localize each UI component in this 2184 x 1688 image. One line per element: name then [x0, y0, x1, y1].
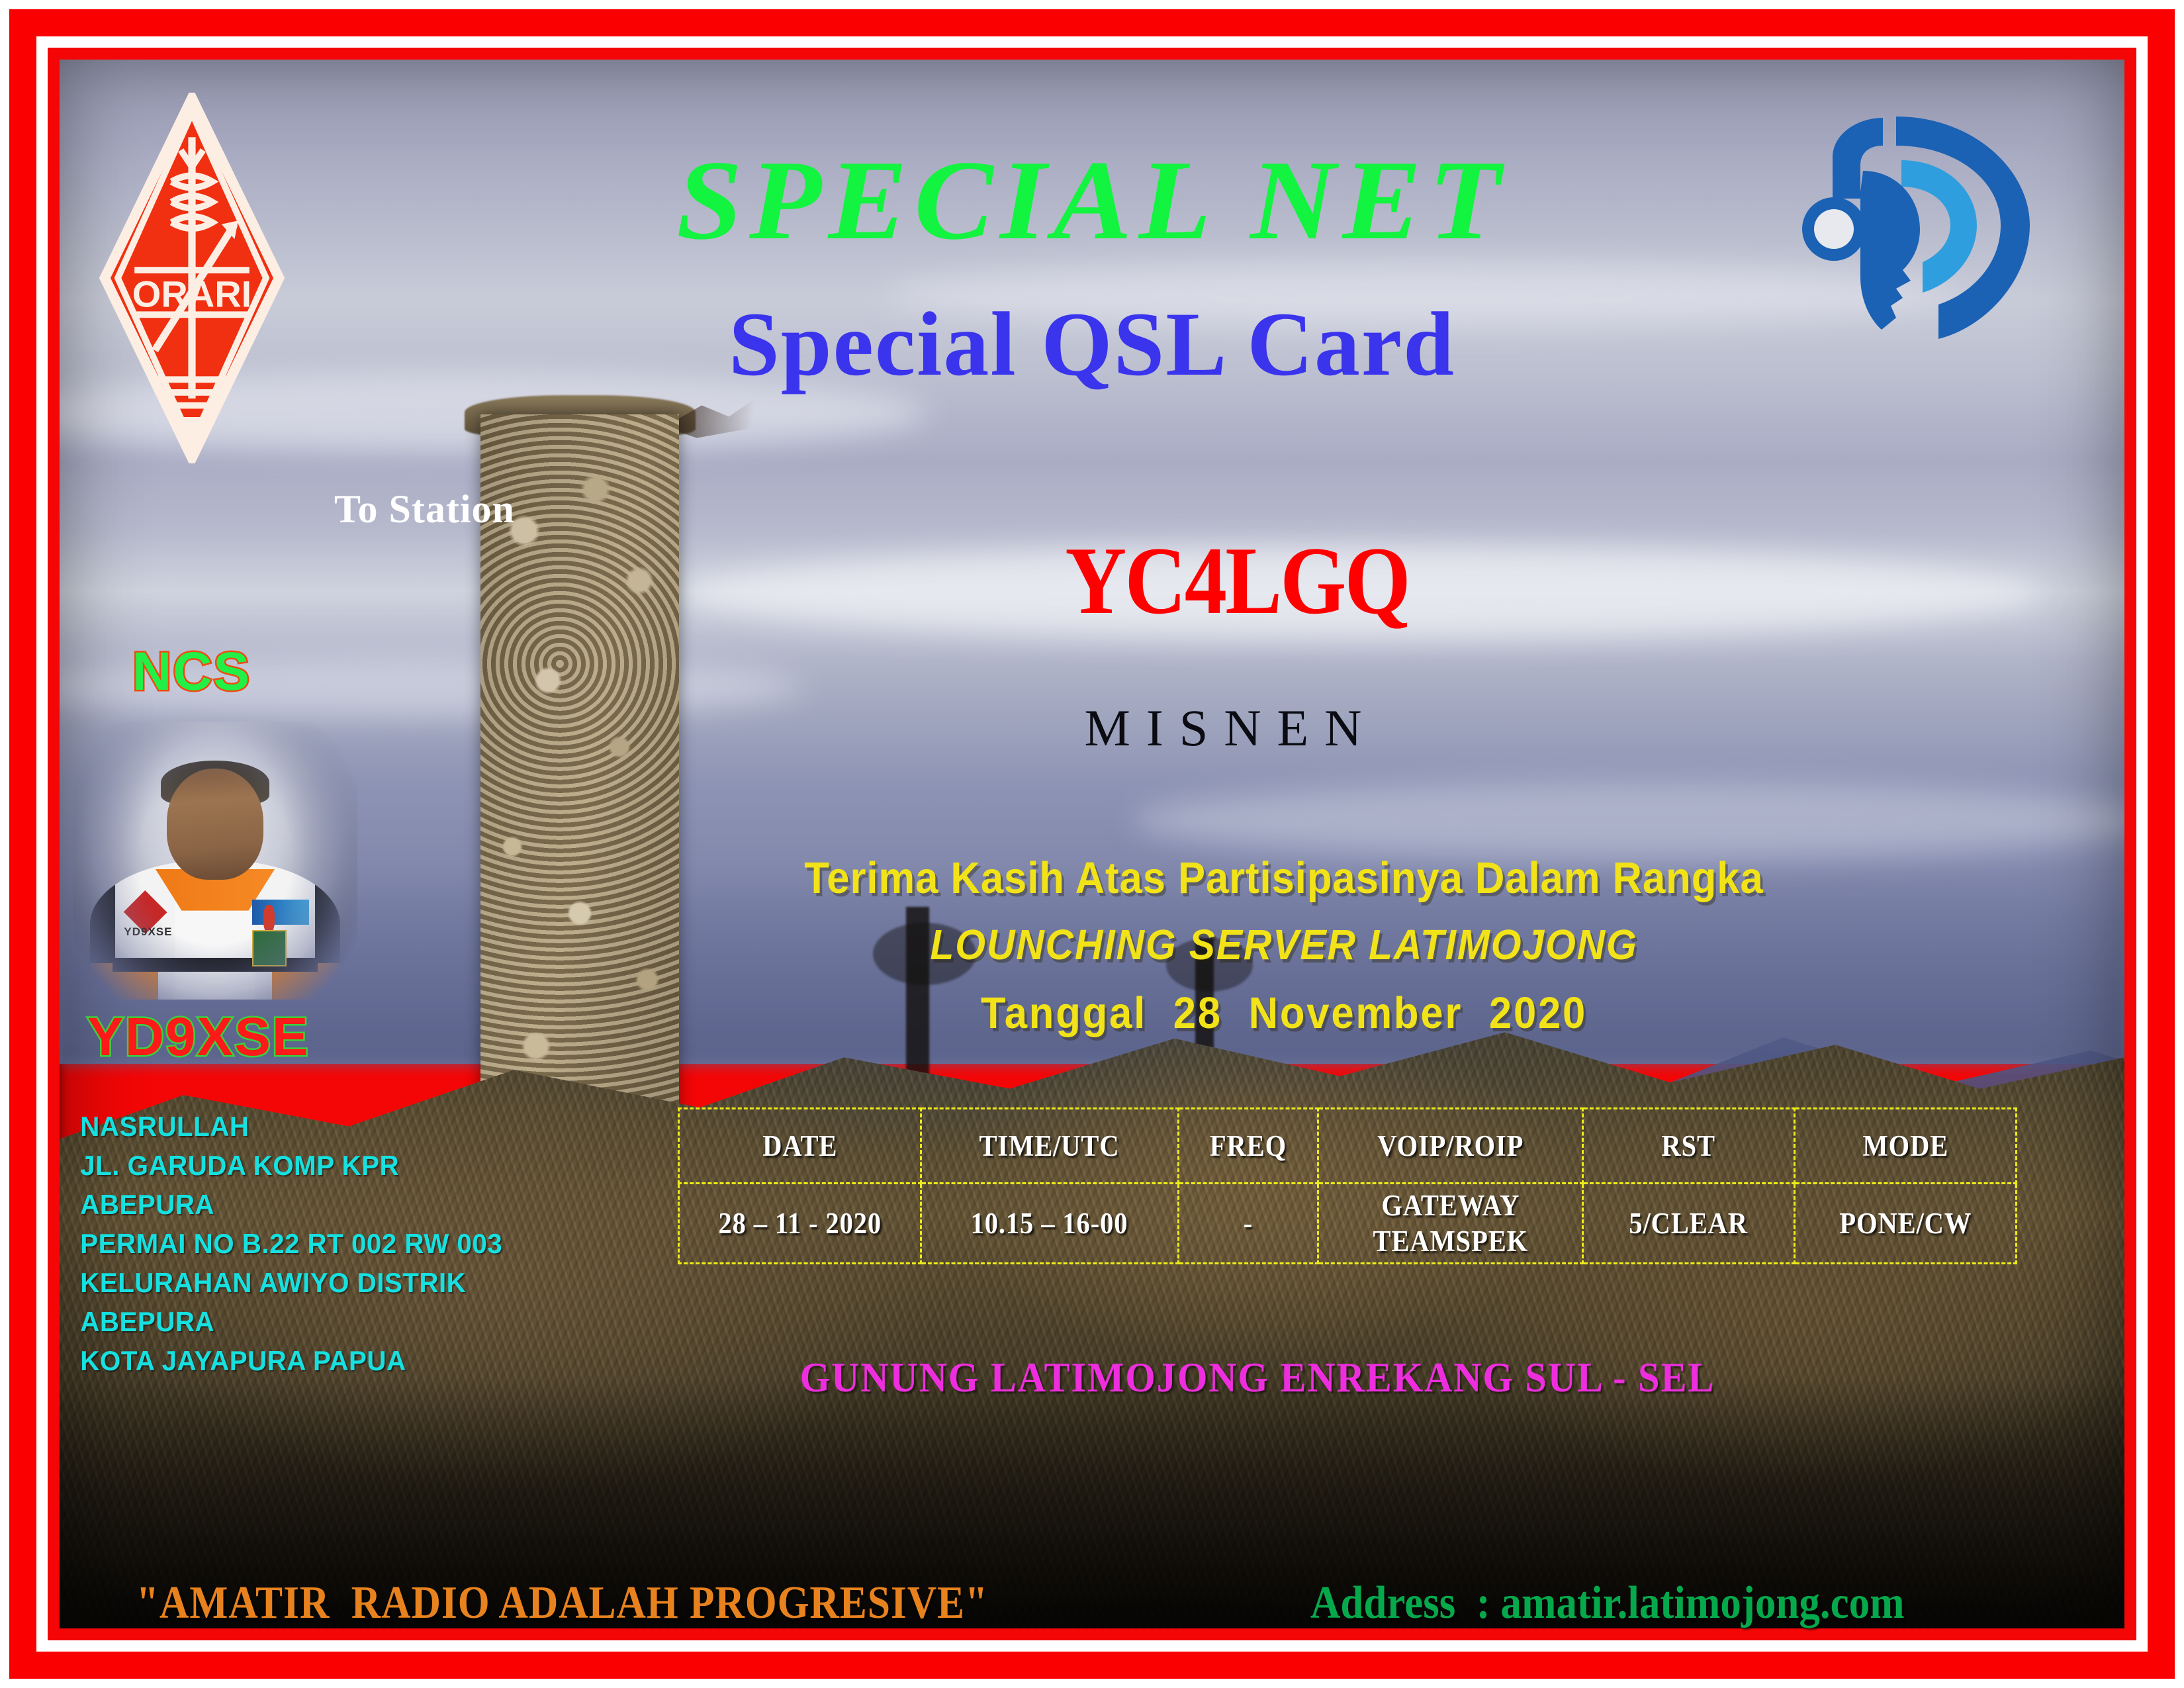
cell-rst: 5/CLEAR	[1594, 1184, 1784, 1264]
column-header-rst: RST	[1594, 1109, 1784, 1184]
portrait-club-patch	[252, 900, 309, 925]
cell-time-utc: 10.15 – 16-00	[933, 1184, 1165, 1264]
ncs-callsign: YD9XSE	[87, 1006, 310, 1068]
portrait-uniform-stripe	[113, 958, 318, 972]
qsl-card: ORARI SPECIAL NET Special QSL Card To St…	[0, 0, 2184, 1688]
to-station-label: To Station	[334, 487, 515, 532]
mailing-address: NASRULLAH JL. GARUDA KOMP KPR ABEPURA PE…	[80, 1107, 502, 1380]
table-row: 28 – 11 - 2020 10.15 – 16-00 - GATEWAY T…	[679, 1184, 2017, 1264]
portrait-id-badge	[252, 930, 286, 966]
operator-name: MISNEN	[768, 698, 1694, 758]
web-address: Address : amatir.latimojong.com	[1310, 1577, 1905, 1630]
table-header-row: DATE TIME/UTC FREQ VOIP/ROIP RST MODE	[679, 1109, 2017, 1184]
column-header-freq: FREQ	[1185, 1109, 1312, 1184]
location-line: GUNUNG LATIMOJONG ENREKANG SUL - SEL	[673, 1354, 1843, 1402]
ncs-operator-portrait: YD9XSE	[73, 722, 357, 1000]
cell-voip-roip: GATEWAY TEAMSPEK	[1332, 1184, 1570, 1264]
motto-text: "AMATIR RADIO ADALAH PROGRESIVE"	[136, 1577, 988, 1630]
portrait-face	[167, 769, 263, 880]
page-title-special-net: SPECIAL NET	[0, 136, 2184, 266]
event-line: LOUNCHING SERVER LATIMOJONG	[754, 920, 1814, 969]
ncs-role-label: NCS	[132, 641, 251, 703]
cell-date: 28 – 11 - 2020	[691, 1184, 909, 1264]
column-header-voip-roip: VOIP/ROIP	[1332, 1109, 1570, 1184]
column-header-time-utc: TIME/UTC	[933, 1109, 1165, 1184]
callsign-block: YC4LGQ	[768, 513, 1694, 648]
qso-details-table: DATE TIME/UTC FREQ VOIP/ROIP RST MODE 28…	[678, 1107, 2017, 1264]
cell-freq: -	[1185, 1184, 1312, 1264]
portrait-lanyard	[263, 905, 275, 933]
event-date-line: Tanggal 28 November 2020	[754, 988, 1814, 1039]
portrait-shirt-callsign: YD9XSE	[124, 925, 172, 939]
cloud-streak	[1133, 781, 2124, 860]
column-header-date: DATE	[691, 1109, 909, 1184]
cell-mode: PONE/CW	[1806, 1184, 2005, 1264]
thanks-line: Terima Kasih Atas Partisipasinya Dalam R…	[754, 853, 1814, 904]
page-subtitle-special-qsl-card: Special QSL Card	[0, 291, 2184, 397]
column-header-mode: MODE	[1806, 1109, 2005, 1184]
station-callsign: YC4LGQ	[1065, 525, 1409, 636]
